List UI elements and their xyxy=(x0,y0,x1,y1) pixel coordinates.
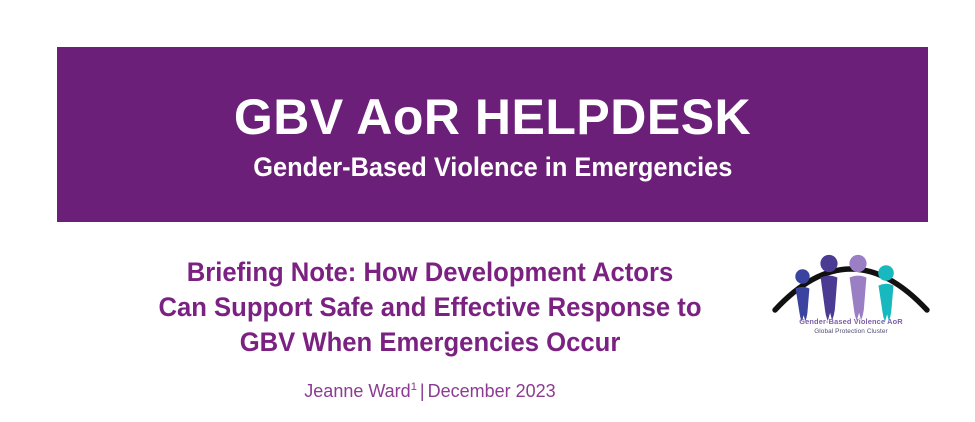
logo-figure-3-icon xyxy=(849,255,866,321)
byline-date: December 2023 xyxy=(428,381,556,401)
byline-author: Jeanne Ward xyxy=(304,381,410,401)
page-title-line-3: GBV When Emergencies Occur xyxy=(107,325,753,360)
byline-footnote-marker: 1 xyxy=(411,381,417,393)
logo-figure-4-icon xyxy=(878,265,894,321)
document-page: GBV AoR HELPDESK Gender-Based Violence i… xyxy=(0,0,975,422)
banner-subtitle: Gender-Based Violence in Emergencies xyxy=(253,153,732,183)
header-banner: GBV AoR HELPDESK Gender-Based Violence i… xyxy=(57,47,928,222)
page-title-line-1: Briefing Note: How Development Actors xyxy=(107,255,753,290)
page-title-line-2: Can Support Safe and Effective Response … xyxy=(107,290,753,325)
logo-caption-primary: Gender-Based Violence AoR xyxy=(772,318,930,326)
logo-figure-2-icon xyxy=(820,255,837,321)
logo-figure-1-icon xyxy=(795,269,809,322)
page-title: Briefing Note: How Development Actors Ca… xyxy=(107,255,753,359)
byline-separator: | xyxy=(417,381,428,401)
banner-title: GBV AoR HELPDESK xyxy=(234,91,751,143)
logo-caption-secondary: Global Protection Cluster xyxy=(772,328,930,335)
gbv-aor-logo: Gender-Based Violence AoR Global Protect… xyxy=(772,232,930,352)
byline: Jeanne Ward1|December 2023 xyxy=(90,381,770,403)
